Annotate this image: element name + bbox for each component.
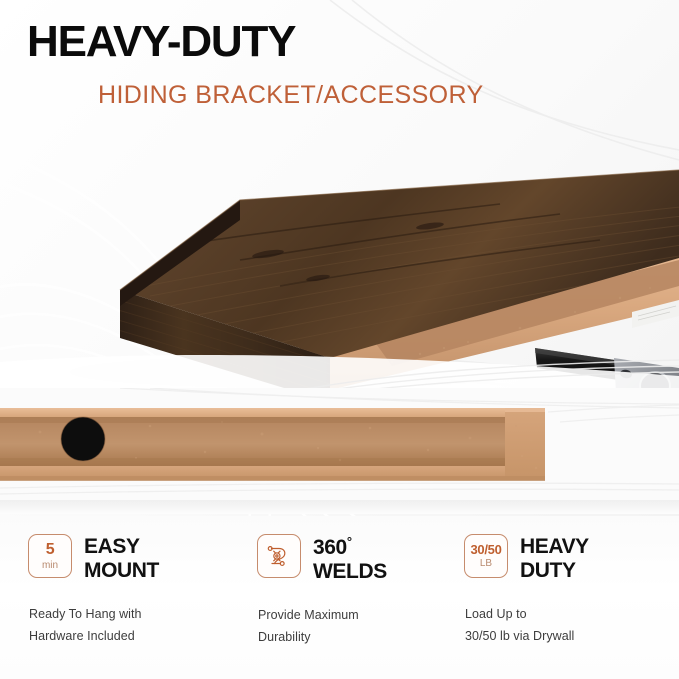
hollow-core-cutaway-illustration xyxy=(0,388,679,500)
feature-heavy-duty: 30/50 LB HEAVY DUTY Load Up to 30/50 lb … xyxy=(464,534,674,647)
five-minute-badge: 5 min xyxy=(28,534,72,578)
badge-unit: min xyxy=(42,561,58,571)
badge-value: 30/50 xyxy=(470,543,501,556)
feature-description: Ready To Hang with Hardware Included xyxy=(29,604,253,647)
section-divider xyxy=(0,500,679,514)
product-infographic: HEAVY-DUTY HIDING BRACKET/ACCESSORY xyxy=(0,0,679,679)
page-title: HEAVY-DUTY xyxy=(27,20,295,64)
hero-product-image xyxy=(0,110,679,390)
weight-capacity-badge: 30/50 LB xyxy=(464,534,508,578)
feature-easy-mount: 5 min EASY MOUNT Ready To Hang with Hard… xyxy=(28,534,253,647)
feature-desc-line-2: Hardware Included xyxy=(29,626,253,648)
feature-heading-row: 360° WELDS xyxy=(257,534,457,583)
badge-value: 5 xyxy=(46,542,55,558)
feature-list: 5 min EASY MOUNT Ready To Hang with Hard… xyxy=(0,516,679,679)
feature-title: EASY MOUNT xyxy=(84,534,159,582)
badge-unit: LB xyxy=(480,559,492,569)
feature-description: Load Up to 30/50 lb via Drywall xyxy=(465,604,674,647)
feature-title-line-1: HEAVY xyxy=(520,535,589,559)
feature-heading-row: 30/50 LB HEAVY DUTY xyxy=(464,534,674,582)
feature-desc-line-1: Ready To Hang with xyxy=(29,604,253,626)
feature-title: HEAVY DUTY xyxy=(520,534,589,582)
feature-title: 360° WELDS xyxy=(313,534,387,583)
feature-desc-line-2: 30/50 lb via Drywall xyxy=(465,626,674,648)
feature-title-line-2: WELDS xyxy=(313,560,387,584)
feature-desc-line-1: Provide Maximum xyxy=(258,605,457,627)
shelf-cutaway-image xyxy=(0,388,679,500)
feature-desc-line-1: Load Up to xyxy=(465,604,674,626)
feature-heading-row: 5 min EASY MOUNT xyxy=(28,534,253,582)
degree-symbol: ° xyxy=(347,534,352,549)
feature-desc-line-2: Durability xyxy=(258,627,457,649)
feature-description: Provide Maximum Durability xyxy=(258,605,457,648)
feature-360-welds: 360° WELDS Provide Maximum Durability xyxy=(257,534,457,648)
feature-title-line-2: DUTY xyxy=(520,559,589,583)
feature-title-line-1: 360° xyxy=(313,535,387,560)
feature-title-line-2: MOUNT xyxy=(84,559,159,583)
header: HEAVY-DUTY HIDING BRACKET/ACCESSORY xyxy=(0,0,679,120)
floating-shelf-illustration xyxy=(0,110,679,390)
weld-path-icon xyxy=(257,534,301,578)
page-subtitle: HIDING BRACKET/ACCESSORY xyxy=(98,83,484,108)
feature-title-line-1: EASY xyxy=(84,535,159,559)
